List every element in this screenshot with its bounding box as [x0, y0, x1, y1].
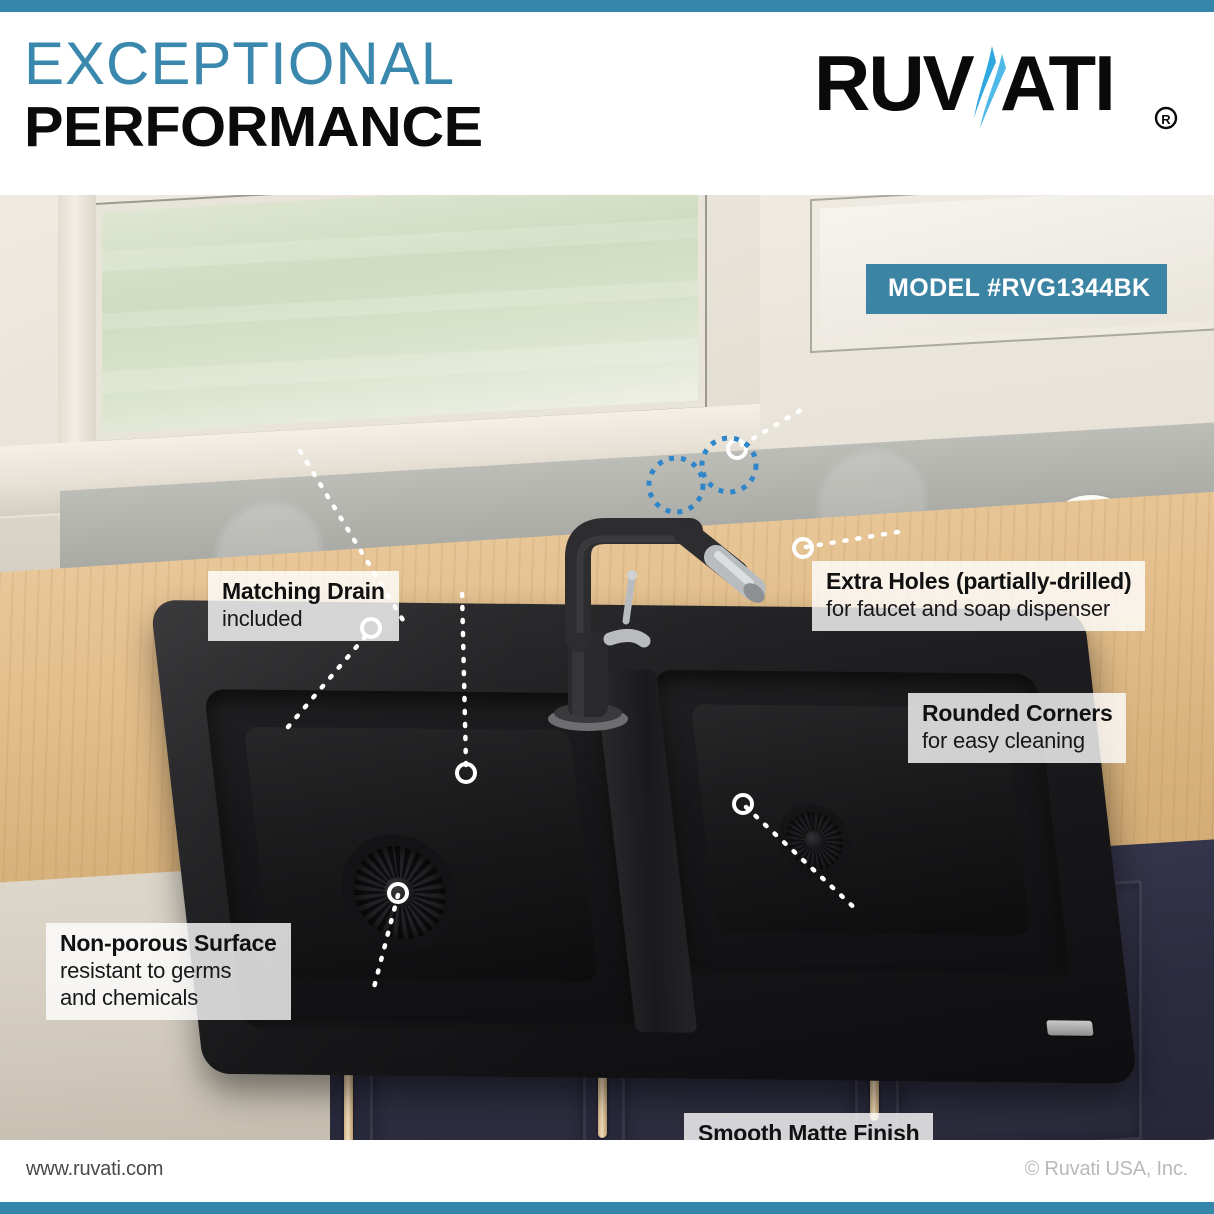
model-number-badge: MODEL #RVG1344BK [866, 264, 1167, 314]
callout-title: Extra Holes (partially-drilled) [826, 568, 1131, 595]
callout-subtitle: included [222, 606, 385, 632]
pull-down-kitchen-faucet [540, 513, 800, 743]
header: EXCEPTIONAL PERFORMANCE RUV ATI R [0, 12, 1214, 195]
window-glass-grass-view [95, 195, 705, 441]
logo-wordmark-left: RUV [814, 42, 975, 127]
logo-water-drop-icon [974, 46, 996, 118]
registered-mark-letter: R [1161, 112, 1171, 127]
footer-copyright: © Ruvati USA, Inc. [1025, 1158, 1188, 1181]
callout-rounded-corners: Rounded Corners for easy cleaning [908, 693, 1126, 763]
bottom-accent-bar [0, 1202, 1214, 1214]
headline-line-1: EXCEPTIONAL [24, 32, 465, 96]
ruvati-logo: RUV ATI R [814, 42, 1184, 138]
callout-extra-holes: Extra Holes (partially-drilled) for fauc… [812, 561, 1145, 631]
ruvati-brand-plate [1046, 1020, 1093, 1036]
callout-non-porous-surface: Non-porous Surface resistant to germs an… [46, 923, 291, 1020]
callout-title: Non-porous Surface [60, 930, 277, 957]
headline-block: EXCEPTIONAL PERFORMANCE [24, 32, 465, 158]
callout-matching-drain: Matching Drain included [208, 571, 399, 641]
footer-website-link[interactable]: www.ruvati.com [26, 1158, 163, 1181]
footer: www.ruvati.com © Ruvati USA, Inc. [0, 1140, 1214, 1202]
callout-subtitle: for faucet and soap dispenser [826, 596, 1131, 622]
faucet-lever-handle [626, 577, 632, 621]
callout-subtitle-line-1: resistant to germs [60, 958, 277, 984]
callout-title: Matching Drain [222, 578, 385, 605]
logo-wordmark-right: ATI [1000, 42, 1114, 127]
callout-subtitle-line-2: and chemicals [60, 985, 277, 1011]
product-photo: Matching Drain included Extra Holes (par… [0, 195, 1214, 1140]
top-accent-bar [0, 0, 1214, 12]
headline-line-2: PERFORMANCE [24, 96, 483, 158]
faucet-handle-hub [610, 635, 644, 641]
infographic-page: EXCEPTIONAL PERFORMANCE RUV ATI R [0, 0, 1214, 1214]
callout-title: Rounded Corners [922, 700, 1112, 727]
callout-title: Smooth Matte Finish [698, 1120, 919, 1140]
callout-subtitle: for easy cleaning [922, 728, 1112, 754]
callout-smooth-matte-finish: Smooth Matte Finish resistant to scratch… [684, 1113, 933, 1140]
